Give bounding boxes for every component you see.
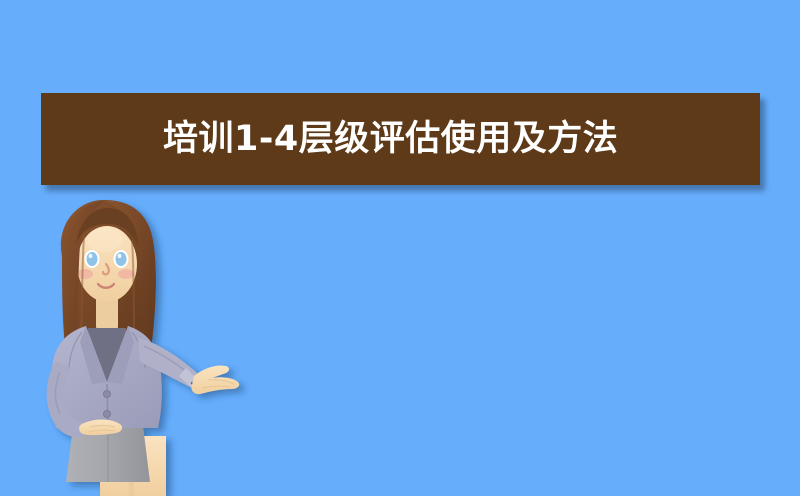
- slide-canvas: 培训1-4层级评估使用及方法: [0, 0, 800, 496]
- extended-hand: [191, 365, 239, 394]
- title-banner: 培训1-4层级评估使用及方法: [41, 93, 760, 185]
- presenter-illustration: [26, 196, 256, 496]
- slide-title: 培训1-4层级评估使用及方法: [163, 122, 618, 157]
